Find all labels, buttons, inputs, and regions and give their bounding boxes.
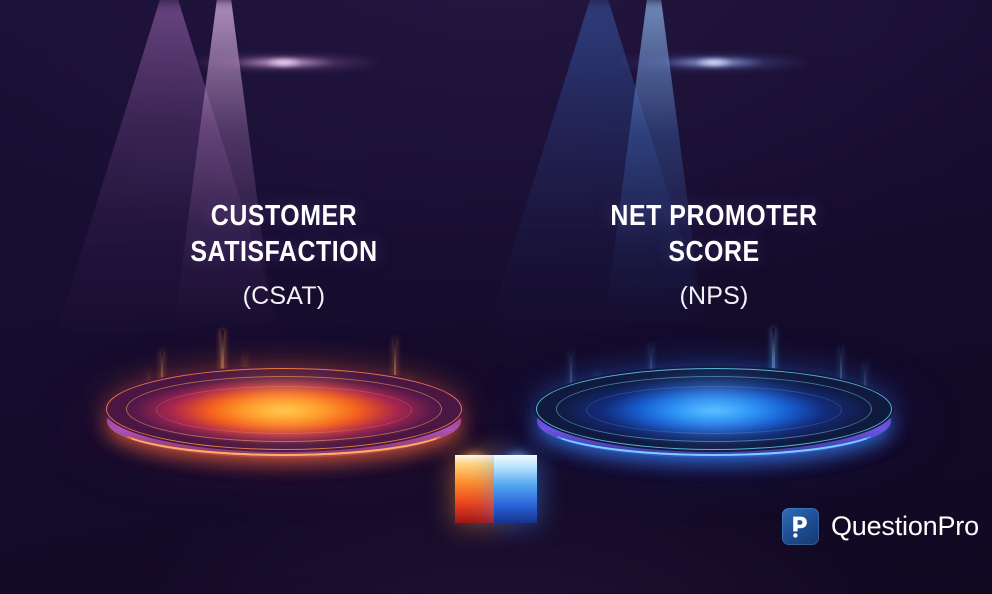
- versus-badge: V S: [455, 455, 541, 527]
- questionpro-mark-icon: [782, 508, 819, 545]
- poster-canvas: CUSTOMER SATISFACTION (CSAT) NET PROMOTE…: [0, 0, 992, 594]
- questionpro-logo[interactable]: QuestionPro: [782, 508, 979, 545]
- title-block-nps: NET PROMOTER SCORE (NPS): [504, 198, 924, 311]
- nps-heading-line1: NET PROMOTER: [533, 198, 894, 234]
- podium-nps: [534, 318, 894, 458]
- csat-heading-line1: CUSTOMER: [103, 198, 464, 234]
- csat-abbreviation: (CSAT): [74, 281, 494, 311]
- podium-csat: [104, 318, 464, 458]
- questionpro-wordmark: QuestionPro: [831, 511, 979, 542]
- lens-flare-icon: [619, 56, 809, 69]
- versus-char-v: V: [455, 455, 498, 523]
- nps-abbreviation: (NPS): [504, 281, 924, 311]
- versus-char-s: S: [494, 455, 537, 523]
- nps-heading-line2: SCORE: [533, 234, 894, 270]
- csat-heading-line2: SATISFACTION: [103, 234, 464, 270]
- title-block-csat: CUSTOMER SATISFACTION (CSAT): [74, 198, 494, 311]
- lens-flare-icon: [189, 56, 379, 69]
